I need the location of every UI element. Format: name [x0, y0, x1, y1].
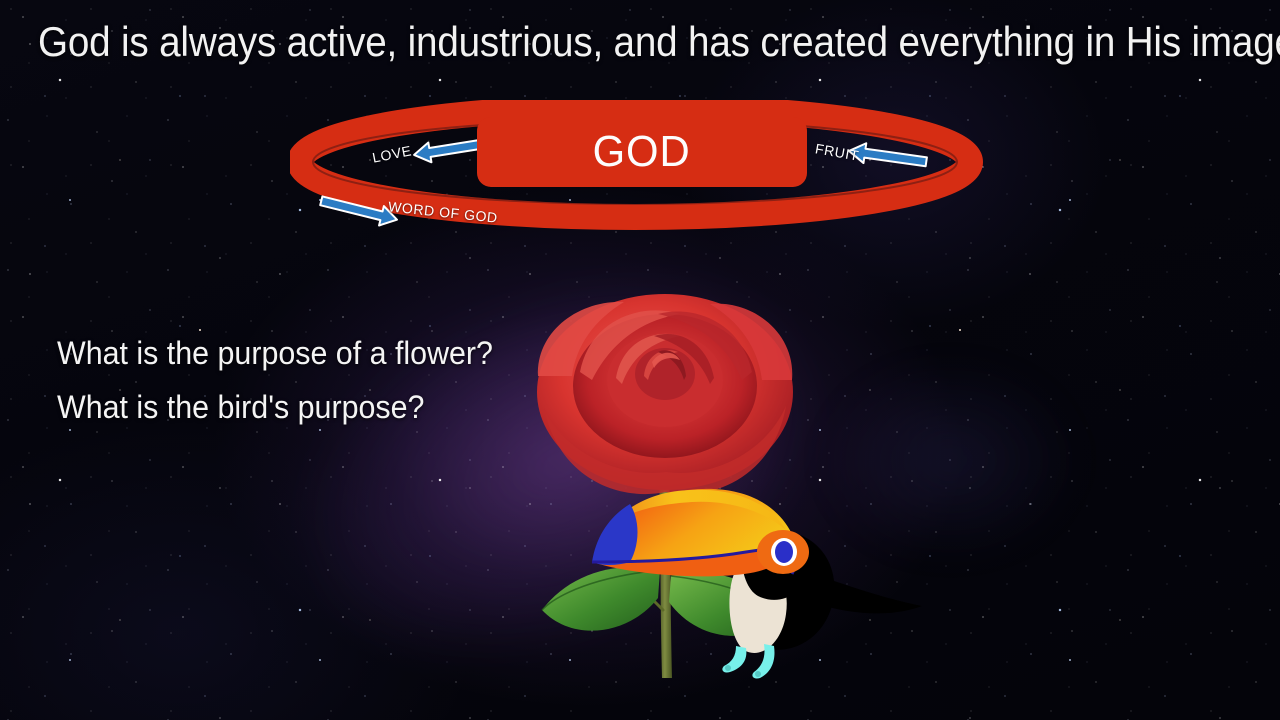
god-center-box: GOD [477, 117, 807, 187]
arrow-fruit [848, 141, 928, 172]
toucan-svg [578, 478, 930, 683]
question-line-flower: What is the purpose of a flower? [57, 326, 493, 380]
toucan-claw-right [755, 671, 761, 677]
toucan-claw-left [725, 665, 731, 671]
toucan-beak-blue-patch [592, 504, 638, 565]
question-line-bird: What is the bird's purpose? [57, 380, 493, 434]
toucan-illustration [578, 478, 930, 683]
god-center-label: GOD [593, 127, 691, 177]
question-block: What is the purpose of a flower? What is… [57, 326, 493, 434]
slide-canvas: God is always active, industrious, and h… [0, 0, 1280, 720]
toucan-eye-pupil [775, 541, 793, 563]
slide-title: God is always active, industrious, and h… [38, 18, 1151, 66]
